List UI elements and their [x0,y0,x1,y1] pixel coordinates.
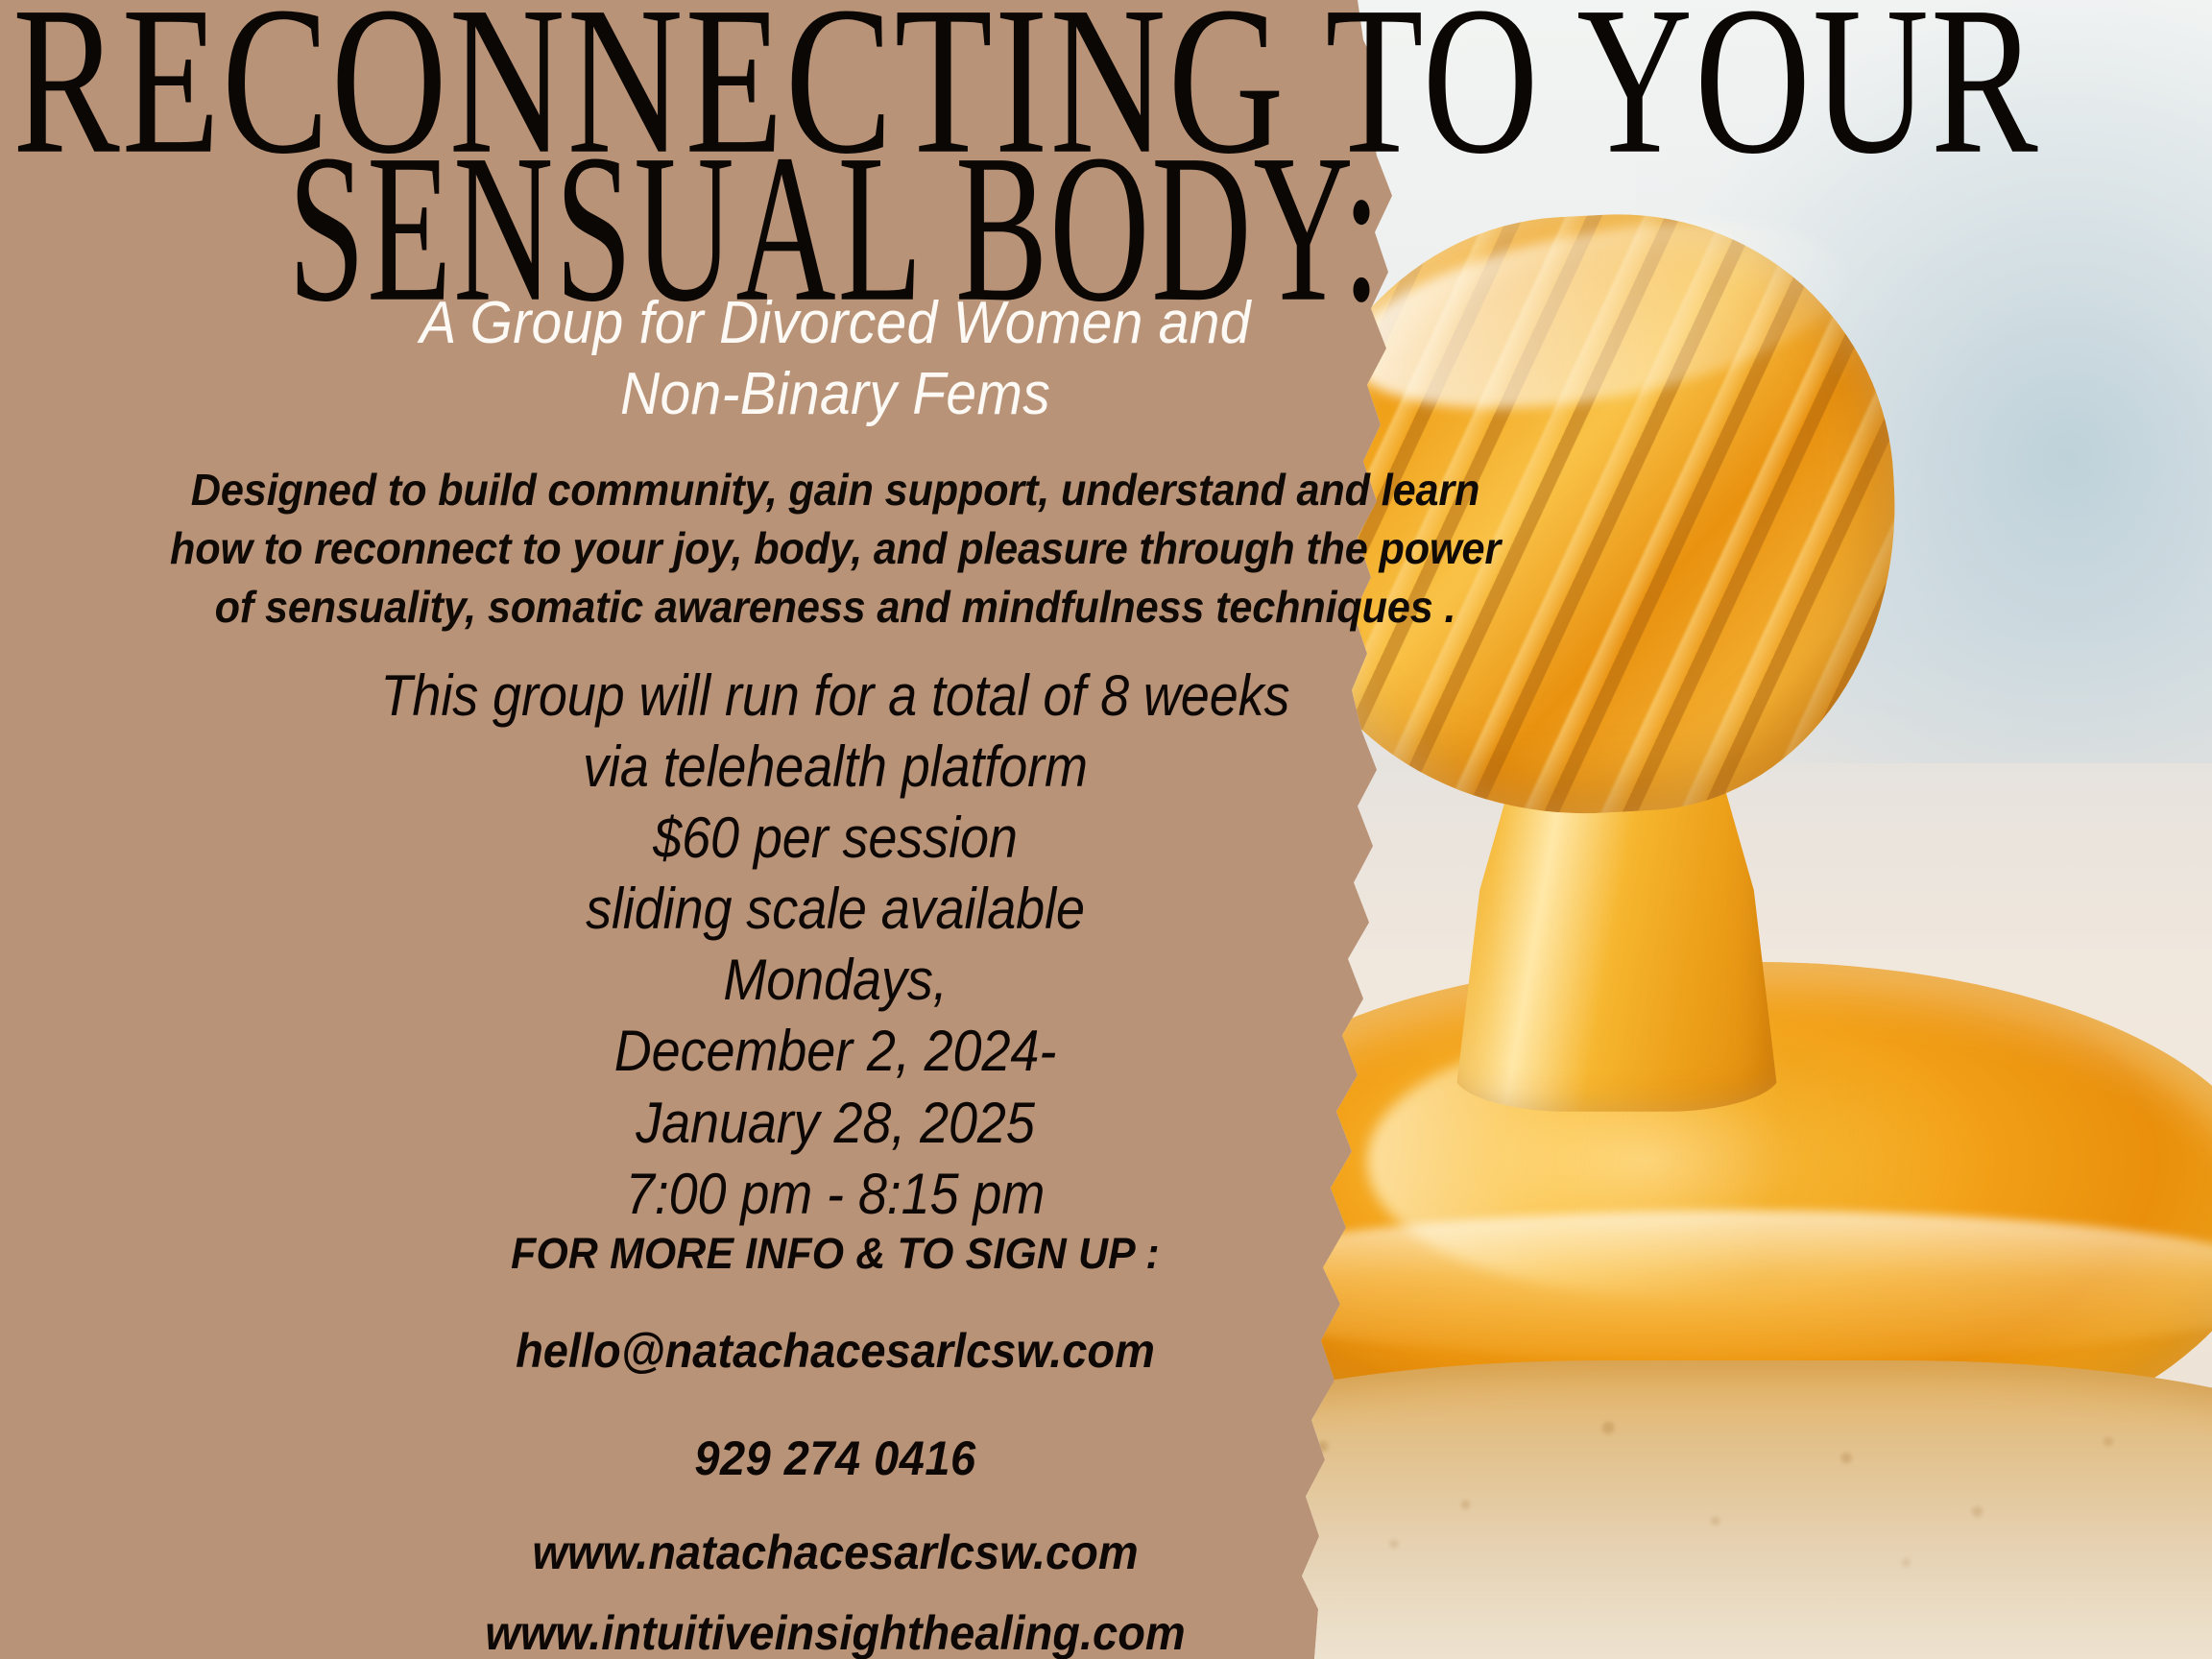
description-paragraph: Designed to build community, gain suppor… [86,461,1584,637]
detail-day: Mondays, [84,945,1587,1016]
detail-duration: This group will run for a total of 8 wee… [84,661,1587,732]
poster-flyer: RECONNECTING TO YOUR SENSUAL BODY: A Gro… [0,0,2212,1659]
text-column: RECONNECTING TO YOUR SENSUAL BODY: A Gro… [0,0,1671,1659]
subtitle-line-2: Non-Binary Fems [67,359,1604,430]
description-line-2: how to reconnect to your joy, body, and … [86,519,1584,578]
subtitle: A Group for Divorced Women and Non-Binar… [67,288,1604,431]
signup-heading: FOR MORE INFO & TO SIGN UP : [42,1229,1629,1279]
detail-price: $60 per session [84,803,1587,874]
description-line-3: of sensuality, somatic awareness and min… [86,578,1584,637]
website-secondary-link[interactable]: www.intuitiveinsighthealing.com [50,1605,1621,1659]
detail-start-date: December 2, 2024- [84,1016,1587,1087]
website-primary-link[interactable]: www.natachacesarlcsw.com [50,1525,1621,1580]
detail-end-date: January 28, 2025 [84,1088,1587,1159]
contact-phone[interactable]: 929 274 0416 [50,1431,1621,1486]
contact-email[interactable]: hello@natachacesarlcsw.com [50,1323,1621,1379]
description-line-1: Designed to build community, gain suppor… [86,461,1584,519]
detail-sliding-scale: sliding scale available [84,874,1587,945]
session-details-list: This group will run for a total of 8 wee… [84,661,1587,1230]
subtitle-line-1: A Group for Divorced Women and [67,288,1604,359]
detail-time-range: 7:00 pm - 8:15 pm [84,1159,1587,1230]
detail-format: via telehealth platform [84,732,1587,803]
